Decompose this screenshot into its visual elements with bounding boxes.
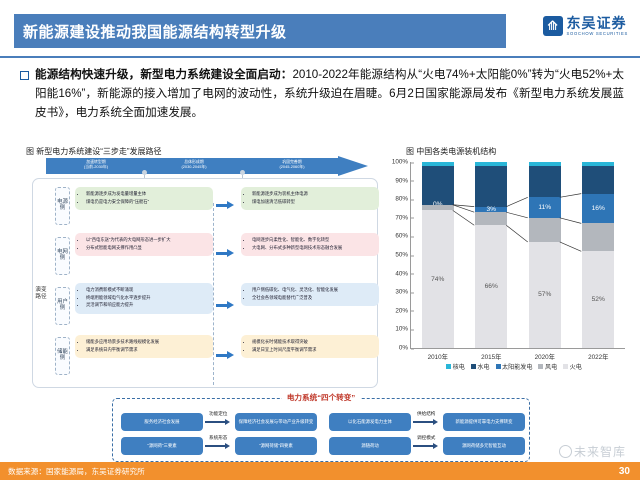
row-0-arrow-icon <box>216 201 234 209</box>
row-0-right-item-0: 新能源逐步成为装机主体电源 <box>252 191 374 197</box>
flow-label-3: 调控模式 <box>417 435 435 441</box>
data-source: 数据来源：国家能源局，东吴证券研究所 <box>8 466 145 477</box>
chart-bar: 16%52% <box>582 162 614 348</box>
four-changes-title-text: 电力系统“四个转变” <box>282 393 360 402</box>
chip-0-to: 保障经济社会发展与带动产业升级转变 <box>235 413 317 431</box>
segment-value-label: 52% <box>592 296 605 303</box>
chart-segment: 52% <box>582 251 614 348</box>
brand-name-en: SOOCHOW SECURITIES <box>567 32 628 36</box>
row-tag-grid: 电网侧 <box>55 237 70 275</box>
row-3-arrow-icon <box>216 351 234 359</box>
row-1-left-card: 以“西电东送”为代表的大电网形态进一步扩大 分布式智能电网支撑作用凸显 <box>75 233 213 256</box>
chart-plot-area: 100%90%80%70%60%50%40%30%20%10%0%0%74%20… <box>410 162 625 349</box>
slide: 新能源建设推动我国能源结构转型升级 ⟰ 东吴证券 SOOCHOW SECURIT… <box>0 0 640 480</box>
row-0-right-item-1: 煤电加速清洁低碳转型 <box>252 199 374 205</box>
chart-segment: 66% <box>475 225 507 348</box>
flow-label-1: 系统形态 <box>209 435 227 441</box>
x-axis-label: 2022年 <box>572 352 624 361</box>
flow-label-2: 供给结构 <box>417 411 435 417</box>
phase-1: 加速转型期 (当前-2030年) <box>48 159 144 170</box>
chip-0-from: 服务经济社会发展 <box>121 413 203 431</box>
segment-value-label: 11% <box>538 204 551 211</box>
row-1-left-item-1: 分布式智能电网支撑作用凸显 <box>86 245 208 251</box>
legend-swatch <box>538 364 543 369</box>
row-tag-power-source: 电源侧 <box>55 187 70 225</box>
flow-arrow-0-icon <box>205 419 230 425</box>
chart-bar: 11%57% <box>529 162 561 348</box>
legend-swatch <box>446 364 451 369</box>
row-2-right-item-0: 用户侧低碳化、电气化、灵活化、智能化发展 <box>252 287 374 293</box>
right-figure-caption: 图 中国各类电源装机结构 <box>406 146 496 157</box>
phase-3: 巩固完善期 (2045-2060年) <box>244 159 340 170</box>
y-axis-tick: 0% <box>399 345 411 352</box>
segment-value-label: 66% <box>485 283 498 290</box>
row-tag-storage: 储能侧 <box>55 337 70 375</box>
key-point-lead: 能源结构快速升级，新型电力系统建设全面启动： <box>35 68 292 81</box>
flow-label-0: 功能定位 <box>209 411 227 417</box>
y-axis-tick: 20% <box>395 307 411 314</box>
legend-swatch <box>471 364 476 369</box>
segment-value-label: 57% <box>538 291 551 298</box>
row-2-right-item-1: 全社会各领域电能替代广泛普及 <box>252 295 374 301</box>
flow-arrow-2-icon <box>413 419 438 425</box>
phase-2: 总体形成期 (2030-2045年) <box>146 159 242 170</box>
slide-header-band: 新能源建设推动我国能源结构转型升级 <box>14 14 506 48</box>
roadmap-panel: 演变路径 电源侧 新能源逐步成为发电量增量主体 煤电仍是电力安全保障的“压舱石”… <box>32 178 378 388</box>
y-axis-tick: 80% <box>395 196 411 203</box>
y-axis-tick: 10% <box>395 326 411 333</box>
legend-item: 火电 <box>563 362 582 371</box>
row-1-left-item-0: 以“西电东送”为代表的大电网形态进一步扩大 <box>86 237 208 243</box>
legend-item: 水电 <box>471 362 490 371</box>
segment-value-label: 74% <box>431 276 444 283</box>
chart-segment <box>475 212 507 225</box>
chart-segment <box>475 166 507 207</box>
row-3-right-card: 规模化长时储能技术取得突破 满足日宜上时间尺度平衡调节需求 <box>241 335 379 358</box>
chip-3-to: 源网荷储多元智能互动 <box>443 437 525 455</box>
roadmap-diagram: 加速转型期 (当前-2030年) 总体形成期 (2030-2045年) 巩固完善… <box>16 156 376 388</box>
legend-label: 核电 <box>453 362 465 371</box>
header-divider <box>0 56 640 58</box>
row-0-left-item-0: 新能源逐步成为发电量增量主体 <box>86 191 208 197</box>
row-2-right-card: 用户侧低碳化、电气化、灵活化、智能化发展 全社会各领域电能替代广泛普及 <box>241 283 379 306</box>
phase-3-period: (2045-2060年) <box>244 164 340 169</box>
row-1-right-item-0: 电网逐步向柔性化、智能化、数字化转型 <box>252 237 374 243</box>
row-tag-user: 用户侧 <box>55 287 70 325</box>
row-2-left-item-0: 电力消费新模式不断涌现 <box>86 287 208 293</box>
four-changes-title: 电力系统“四个转变” <box>113 392 529 403</box>
y-axis-tick: 100% <box>392 159 411 166</box>
brand-name-cn: 东吴证券 <box>567 16 628 30</box>
chart-bar: 0%74% <box>422 162 454 348</box>
row-0-right-card: 新能源逐步成为装机主体电源 煤电加速清洁低碳转型 <box>241 187 379 210</box>
row-2-left-item-1: 终端用能领域电气化水平逐步提升 <box>86 295 208 301</box>
y-axis-tick: 60% <box>395 233 411 240</box>
row-3-right-item-0: 规模化长时储能技术取得突破 <box>252 339 374 345</box>
page-number: 30 <box>619 466 630 477</box>
logo-mark-icon: ⟰ <box>543 16 563 36</box>
legend-item: 核电 <box>446 362 465 371</box>
timeline-arrow: 加速转型期 (当前-2030年) 总体形成期 (2030-2045年) 巩固完善… <box>46 156 368 176</box>
chart-segment: 57% <box>529 242 561 348</box>
chart-segment <box>582 166 614 194</box>
legend-label: 太阳能发电 <box>502 362 532 371</box>
chart-segment <box>529 218 561 242</box>
key-point-bullet: 能源结构快速升级，新型电力系统建设全面启动：2010-2022年能源结构从“火电… <box>20 66 624 122</box>
row-0-left-item-1: 煤电仍是电力安全保障的“压舱石” <box>86 199 208 205</box>
chart-segment: 11% <box>529 197 561 217</box>
legend-label: 风电 <box>545 362 557 371</box>
roadmap-side-label: 演变路径 <box>35 287 47 301</box>
chip-1-to: “源网荷储”四要素 <box>235 437 317 455</box>
page-title: 新能源建设推动我国能源结构转型升级 <box>23 21 287 42</box>
y-axis-tick: 40% <box>395 270 411 277</box>
legend-label: 水电 <box>477 362 489 371</box>
row-2-arrow-icon <box>216 301 234 309</box>
x-axis-label: 2015年 <box>465 352 517 361</box>
chart-segment <box>422 166 454 205</box>
phase-1-period: (当前-2030年) <box>48 164 144 169</box>
row-2-left-item-2: 灵活调节和响应能力提升 <box>86 302 208 308</box>
slide-footer: 数据来源：国家能源局，东吴证券研究所 30 <box>0 462 640 480</box>
x-axis-label: 2020年 <box>519 352 571 361</box>
y-axis-tick: 30% <box>395 289 411 296</box>
row-3-left-card: 储能多应用场景多技术路线规模化发展 满足系统日内平衡调节需求 <box>75 335 213 358</box>
row-3-right-item-1: 满足日宜上时间尺度平衡调节需求 <box>252 347 374 353</box>
row-3-left-item-0: 储能多应用场景多技术路线规模化发展 <box>86 339 208 345</box>
timeline-arrow-head-icon <box>338 156 368 176</box>
x-axis-label: 2010年 <box>412 352 464 361</box>
chip-2-from: 以化石能源发电力主体 <box>329 413 411 431</box>
chart-bar: 3%66% <box>475 162 507 348</box>
key-point-text: 能源结构快速升级，新型电力系统建设全面启动：2010-2022年能源结构从“火电… <box>35 66 624 122</box>
legend-swatch <box>563 364 568 369</box>
row-1-right-item-1: 大电网、分布式多种新型电网技术形态融合发展 <box>252 245 374 251</box>
row-1-arrow-icon <box>216 249 234 257</box>
energy-mix-chart: 100%90%80%70%60%50%40%30%20%10%0%0%74%20… <box>382 158 636 390</box>
chart-segment: 16% <box>582 194 614 224</box>
bullet-square-icon <box>20 71 29 80</box>
panel-center-divider <box>213 203 214 385</box>
brand-logo: ⟰ 东吴证券 SOOCHOW SECURITIES <box>543 16 628 36</box>
row-1-right-card: 电网逐步向柔性化、智能化、数字化转型 大电网、分布式多种新型电网技术形态融合发展 <box>241 233 379 256</box>
phase-2-period: (2030-2045年) <box>146 164 242 169</box>
legend-item: 太阳能发电 <box>496 362 533 371</box>
legend-item: 风电 <box>538 362 557 371</box>
chip-3-from: 源随荷动 <box>329 437 411 455</box>
chart-segment <box>582 223 614 251</box>
watermark: 未来智库 <box>559 443 626 460</box>
segment-value-label: 16% <box>592 205 605 212</box>
chart-segment: 74% <box>422 210 454 348</box>
y-axis-tick: 50% <box>395 252 411 259</box>
y-axis-tick: 90% <box>395 177 411 184</box>
y-axis-tick: 70% <box>395 214 411 221</box>
chip-1-from: “源网荷”三要素 <box>121 437 203 455</box>
legend-swatch <box>496 364 501 369</box>
watermark-icon <box>559 445 572 458</box>
chart-segment <box>529 166 561 198</box>
chart-legend: 核电水电太阳能发电风电火电 <box>396 362 632 371</box>
flow-arrow-3-icon <box>413 443 438 449</box>
chip-2-to: 新能源提供可靠电力支撑转变 <box>443 413 525 431</box>
flow-arrow-1-icon <box>205 443 230 449</box>
legend-label: 火电 <box>570 362 582 371</box>
row-0-left-card: 新能源逐步成为发电量增量主体 煤电仍是电力安全保障的“压舱石” <box>75 187 213 210</box>
row-3-left-item-1: 满足系统日内平衡调节需求 <box>86 347 208 353</box>
four-changes-box: 电力系统“四个转变” 服务经济社会发展 功能定位 保障经济社会发展与带动产业升级… <box>112 398 530 462</box>
row-2-left-card: 电力消费新模式不断涌现 终端用能领域电气化水平逐步提升 灵活调节和响应能力提升 <box>75 283 213 314</box>
watermark-text: 未来智库 <box>574 443 626 460</box>
